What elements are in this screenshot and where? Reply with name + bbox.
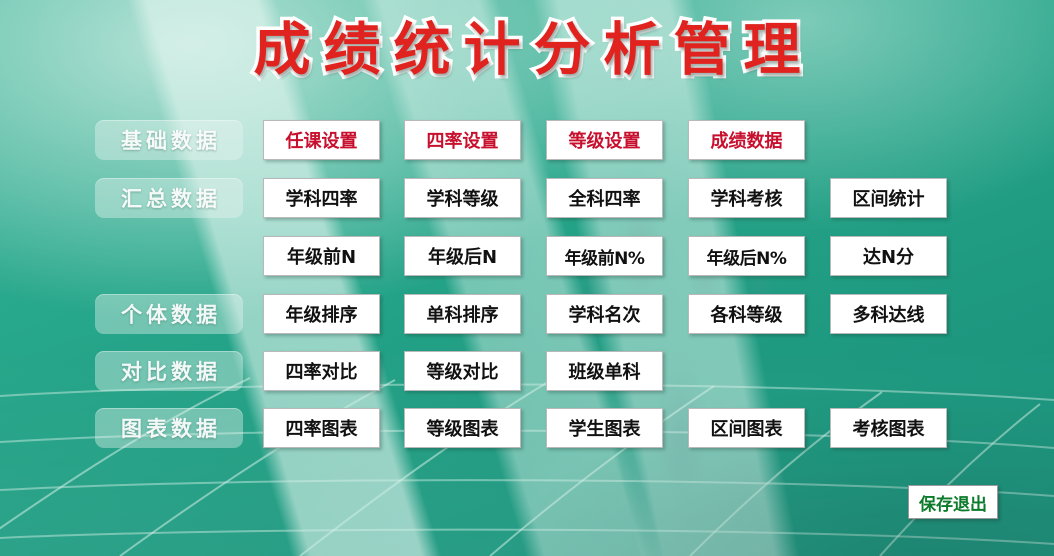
background-diagonal-bands bbox=[0, 0, 1054, 556]
action-button-label: 学科等级 bbox=[427, 185, 499, 211]
title-bar: 成绩统计分析管理 bbox=[0, 4, 1054, 86]
category-pill-label: 个体数据 bbox=[117, 299, 221, 329]
action-button[interactable]: 学科名次 bbox=[546, 294, 663, 334]
background-wash bbox=[0, 0, 1054, 556]
background-diagonal-bands-secondary bbox=[0, 0, 1054, 556]
category-pill-chart: 图表数据 bbox=[95, 408, 243, 448]
save-exit-button[interactable]: 保存退出 bbox=[908, 485, 998, 519]
category-pill-basic: 基础数据 bbox=[95, 120, 243, 160]
action-button[interactable]: 年级前N bbox=[263, 236, 380, 276]
action-button[interactable]: 任课设置 bbox=[263, 120, 380, 160]
action-button-label: 四率对比 bbox=[286, 358, 358, 384]
action-button[interactable]: 学生图表 bbox=[546, 408, 663, 448]
action-button-label: 区间统计 bbox=[853, 185, 925, 211]
action-button[interactable]: 学科四率 bbox=[263, 178, 380, 218]
category-pill-individual: 个体数据 bbox=[95, 294, 243, 334]
background-vignette bbox=[0, 0, 1054, 556]
category-pill-summary: 汇总数据 bbox=[95, 178, 243, 218]
action-button-label: 考核图表 bbox=[853, 415, 925, 441]
action-button-label: 四率图表 bbox=[286, 415, 358, 441]
category-pill-label: 图表数据 bbox=[117, 413, 221, 443]
action-button[interactable]: 四率对比 bbox=[263, 351, 380, 391]
action-button[interactable]: 年级前N% bbox=[546, 236, 663, 276]
category-pill-compare: 对比数据 bbox=[95, 351, 243, 391]
action-button-label: 年级后N bbox=[428, 243, 497, 269]
background-silhouettes bbox=[0, 0, 1054, 556]
action-button-label: 学科四率 bbox=[286, 185, 358, 211]
action-button-label: 学生图表 bbox=[569, 415, 641, 441]
action-button-label: 单科排序 bbox=[427, 301, 499, 327]
category-pill-label: 汇总数据 bbox=[117, 183, 221, 213]
page-title: 成绩统计分析管理 bbox=[241, 4, 814, 86]
action-button[interactable]: 全科四率 bbox=[546, 178, 663, 218]
action-button-label: 学科名次 bbox=[569, 301, 641, 327]
action-button[interactable]: 考核图表 bbox=[830, 408, 947, 448]
action-button-label: 年级排序 bbox=[286, 301, 358, 327]
action-button[interactable]: 学科考核 bbox=[688, 178, 805, 218]
action-button[interactable]: 年级后N% bbox=[688, 236, 805, 276]
action-button-label: 等级设置 bbox=[569, 127, 641, 153]
action-button-label: 全科四率 bbox=[569, 185, 641, 211]
action-button[interactable]: 等级设置 bbox=[546, 120, 663, 160]
action-button[interactable]: 班级单科 bbox=[546, 351, 663, 391]
action-button-label: 学科考核 bbox=[711, 185, 783, 211]
action-button-label: 四率设置 bbox=[427, 127, 499, 153]
action-button[interactable]: 成绩数据 bbox=[688, 120, 805, 160]
action-button[interactable]: 区间统计 bbox=[830, 178, 947, 218]
category-pill-label: 对比数据 bbox=[117, 356, 221, 386]
background-globe-mesh bbox=[0, 0, 1054, 556]
action-button-label: 年级前N% bbox=[565, 244, 645, 269]
action-button-label: 多科达线 bbox=[853, 301, 925, 327]
action-button[interactable]: 区间图表 bbox=[688, 408, 805, 448]
action-button[interactable]: 单科排序 bbox=[404, 294, 521, 334]
action-button-label: 任课设置 bbox=[286, 127, 358, 153]
action-button[interactable]: 四率图表 bbox=[263, 408, 380, 448]
action-button-label: 达N分 bbox=[863, 243, 914, 269]
action-button[interactable]: 达N分 bbox=[830, 236, 947, 276]
action-button-label: 年级前N bbox=[287, 243, 356, 269]
action-button[interactable]: 年级后N bbox=[404, 236, 521, 276]
action-button-label: 班级单科 bbox=[569, 358, 641, 384]
action-button-label: 等级图表 bbox=[427, 415, 499, 441]
action-button[interactable]: 年级排序 bbox=[263, 294, 380, 334]
action-button[interactable]: 等级图表 bbox=[404, 408, 521, 448]
action-button-label: 成绩数据 bbox=[711, 127, 783, 153]
action-button[interactable]: 多科达线 bbox=[830, 294, 947, 334]
action-button-label: 各科等级 bbox=[711, 301, 783, 327]
action-button[interactable]: 各科等级 bbox=[688, 294, 805, 334]
action-button-label: 区间图表 bbox=[711, 415, 783, 441]
app-window: 成绩统计分析管理 基础数据汇总数据个体数据对比数据图表数据任课设置四率设置等级设… bbox=[0, 0, 1054, 556]
action-button[interactable]: 四率设置 bbox=[404, 120, 521, 160]
save-exit-label: 保存退出 bbox=[919, 490, 987, 515]
action-button[interactable]: 学科等级 bbox=[404, 178, 521, 218]
action-button-label: 等级对比 bbox=[427, 358, 499, 384]
action-button-label: 年级后N% bbox=[707, 244, 787, 269]
action-button[interactable]: 等级对比 bbox=[404, 351, 521, 391]
category-pill-label: 基础数据 bbox=[117, 125, 221, 155]
